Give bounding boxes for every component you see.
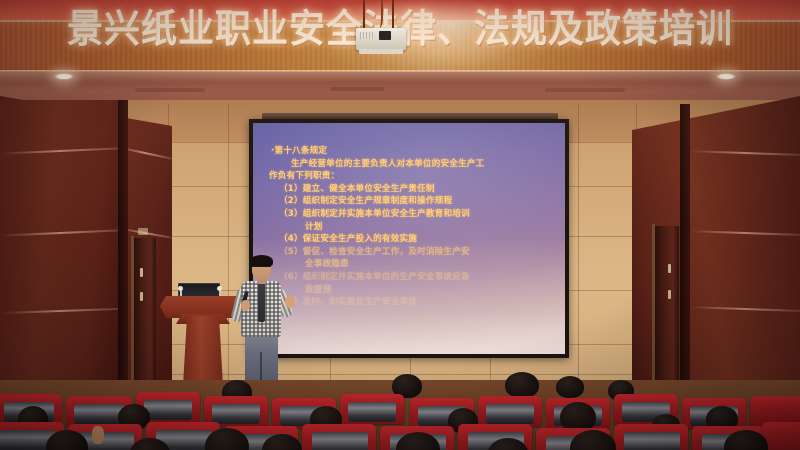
projector-base — [359, 49, 403, 54]
projector-vent — [360, 32, 374, 39]
audience-head — [505, 372, 539, 398]
seat-back — [624, 432, 680, 450]
presenter-right-hand — [285, 296, 295, 308]
seat-back — [312, 432, 368, 450]
audience-head — [556, 376, 584, 398]
glasses-icon — [252, 266, 271, 270]
seat-back — [486, 404, 534, 424]
seat-back — [212, 404, 260, 424]
audience-raised-hand — [92, 426, 104, 444]
seat-back — [74, 404, 124, 424]
seat-back — [348, 402, 396, 422]
ceiling-projector — [352, 0, 408, 56]
projector-lens-panel — [379, 31, 391, 40]
projector-cable — [374, 0, 383, 28]
seat-back — [144, 400, 192, 420]
auditorium-photo: 景兴纸业职业安全法律、法规及政策培训 — [0, 0, 800, 450]
presenter-shirt-opening — [258, 282, 265, 322]
presenter-left-hand — [241, 300, 250, 311]
audience-area — [0, 372, 800, 450]
